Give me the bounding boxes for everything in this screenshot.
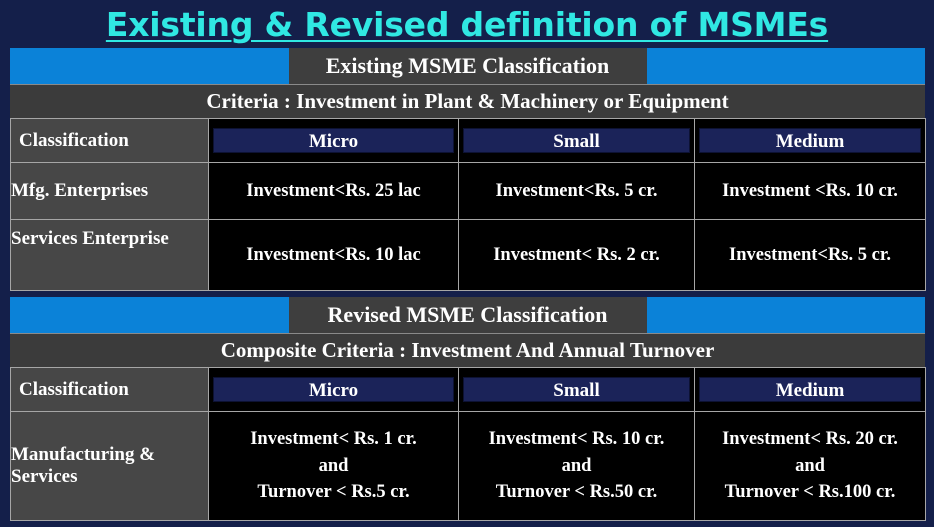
revised-col-small-label: Small	[463, 377, 690, 402]
existing-row-services-label: Services Enterprise	[11, 220, 209, 291]
cell-line: and	[459, 453, 694, 480]
existing-row-mfg-label: Mfg. Enterprises	[11, 163, 209, 220]
existing-banner-label: Existing MSME Classification	[289, 48, 647, 84]
table-row: Mfg. Enterprises Investment<Rs. 25 lac I…	[11, 163, 926, 220]
existing-col-classification: Classification	[11, 119, 209, 163]
existing-mfg-medium: Investment <Rs. 10 cr.	[695, 163, 926, 220]
revised-banner-label: Revised MSME Classification	[289, 297, 647, 333]
revised-medium-cell: Investment< Rs. 20 cr. and Turnover < Rs…	[695, 412, 926, 521]
cell-line: and	[695, 453, 925, 480]
revised-small-cell: Investment< Rs. 10 cr. and Turnover < Rs…	[459, 412, 695, 521]
cell-line: Investment<Rs. 5 cr.	[695, 242, 925, 269]
msme-tables-board: Existing MSME Classification Criteria : …	[10, 48, 925, 514]
table-row: Services Enterprise Investment<Rs. 10 la…	[11, 220, 926, 291]
cell-line: and	[209, 453, 458, 480]
revised-col-medium-label: Medium	[699, 377, 921, 402]
revised-criteria-row: Composite Criteria : Investment And Annu…	[10, 333, 925, 367]
page-title: Existing & Revised definition of MSMEs	[106, 5, 828, 44]
cell-line: Turnover < Rs.5 cr.	[209, 479, 458, 506]
cell-line: Investment< Rs. 1 cr.	[209, 426, 458, 453]
revised-col-medium: Medium	[695, 368, 926, 412]
existing-col-micro: Micro	[209, 119, 459, 163]
cell-line: Turnover < Rs.50 cr.	[459, 479, 694, 506]
existing-col-small: Small	[459, 119, 695, 163]
table-row: Manufacturing & Services Investment< Rs.…	[11, 412, 926, 521]
revised-col-micro-label: Micro	[213, 377, 454, 402]
existing-services-micro: Investment<Rs. 10 lac	[209, 220, 459, 291]
existing-col-micro-label: Micro	[213, 128, 454, 153]
revised-col-classification: Classification	[11, 368, 209, 412]
cell-line: Investment<Rs. 10 lac	[209, 242, 458, 269]
slide-root: Existing & Revised definition of MSMEs E…	[0, 0, 934, 527]
cell-line: Investment<Rs. 25 lac	[209, 178, 458, 205]
existing-col-small-label: Small	[463, 128, 690, 153]
existing-col-medium: Medium	[695, 119, 926, 163]
label-line-1: Services	[11, 228, 77, 249]
existing-services-small: Investment< Rs. 2 cr.	[459, 220, 695, 291]
label-line-2: Enterprise	[82, 228, 169, 249]
cell-line: Investment<Rs. 5 cr.	[459, 178, 694, 205]
revised-banner: Revised MSME Classification	[10, 297, 925, 333]
existing-banner: Existing MSME Classification	[10, 48, 925, 84]
existing-header-row: Classification Micro Small Medium	[11, 119, 926, 163]
existing-criteria-row: Criteria : Investment in Plant & Machine…	[10, 84, 925, 118]
cell-line: Investment <Rs. 10 cr.	[695, 178, 925, 205]
existing-col-medium-label: Medium	[699, 128, 921, 153]
existing-mfg-micro: Investment<Rs. 25 lac	[209, 163, 459, 220]
revised-row-label: Manufacturing & Services	[11, 412, 209, 521]
existing-table: Classification Micro Small Medium Mfg. E…	[10, 118, 926, 291]
revised-table: Classification Micro Small Medium Manufa…	[10, 367, 926, 521]
existing-services-medium: Investment<Rs. 5 cr.	[695, 220, 926, 291]
cell-line: Investment< Rs. 2 cr.	[459, 242, 694, 269]
label-line-1: Manufacturing	[11, 444, 135, 465]
existing-mfg-small: Investment<Rs. 5 cr.	[459, 163, 695, 220]
revised-header-row: Classification Micro Small Medium	[11, 368, 926, 412]
cell-line: Investment< Rs. 20 cr.	[695, 426, 925, 453]
revised-micro-cell: Investment< Rs. 1 cr. and Turnover < Rs.…	[209, 412, 459, 521]
cell-line: Turnover < Rs.100 cr.	[695, 479, 925, 506]
slide-title-area: Existing & Revised definition of MSMEs	[0, 0, 934, 48]
revised-col-small: Small	[459, 368, 695, 412]
revised-col-micro: Micro	[209, 368, 459, 412]
cell-line: Investment< Rs. 10 cr.	[459, 426, 694, 453]
